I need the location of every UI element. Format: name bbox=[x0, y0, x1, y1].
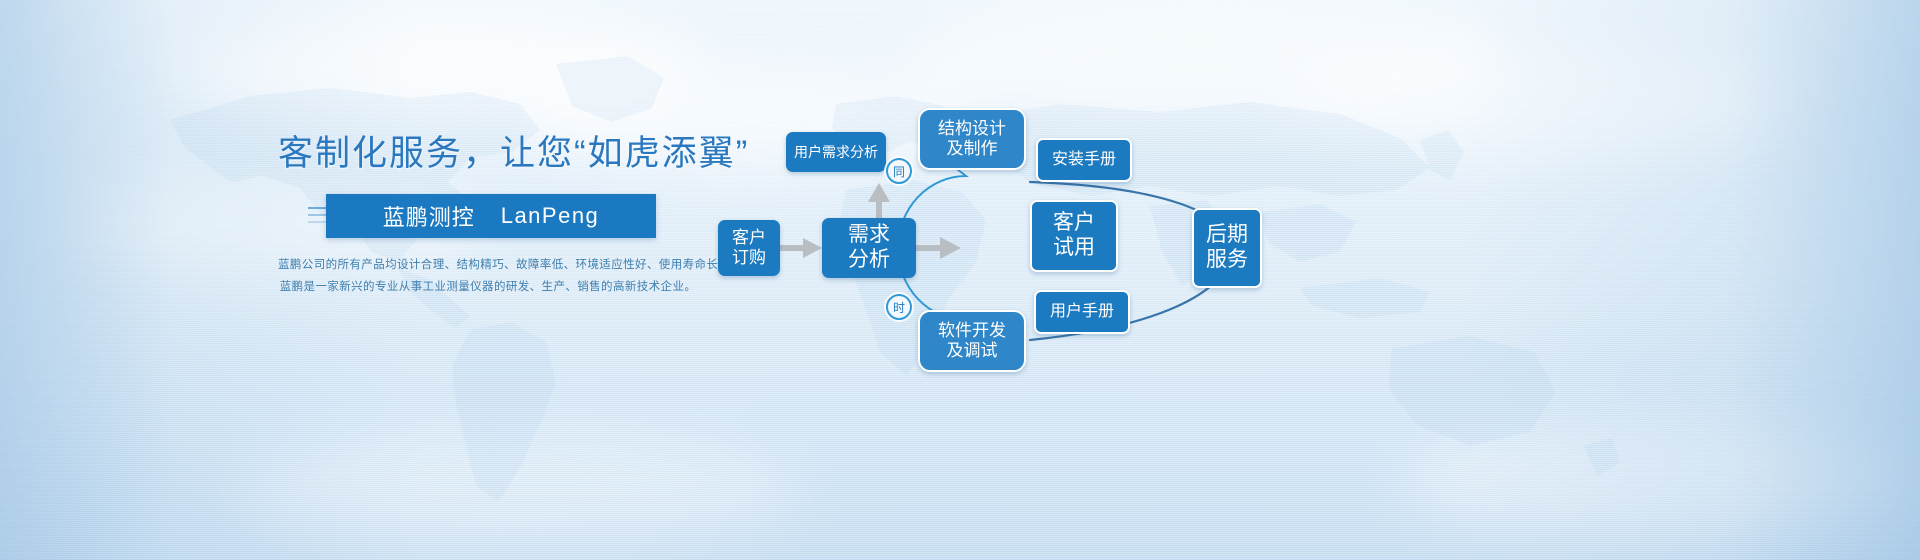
brand-description: 蓝鹏公司的所有产品均设计合理、结构精巧、故障率低、环境适应性好、使用寿命长。 蓝… bbox=[278, 254, 698, 299]
flow-node-install-manual[interactable]: 安装手册 bbox=[1036, 138, 1132, 182]
description-line-1: 蓝鹏公司的所有产品均设计合理、结构精巧、故障率低、环境适应性好、使用寿命长。 bbox=[278, 254, 698, 276]
cloud-decoration bbox=[1400, 420, 1920, 540]
banner-stage: 客制化服务，让您“如虎添翼” 蓝鹏测控 LanPeng 蓝鹏公司的所有产品均设计… bbox=[0, 0, 1920, 560]
brand-name-en: LanPeng bbox=[501, 203, 600, 229]
flow-node-structure-design[interactable]: 结构设计 及制作 bbox=[918, 108, 1026, 170]
flow-badge-label: 时 bbox=[893, 299, 905, 316]
flow-node-label: 需求 分析 bbox=[848, 223, 890, 273]
flow-node-customer-trial[interactable]: 客户 试用 bbox=[1030, 200, 1118, 272]
cloud-decoration bbox=[1280, 40, 1800, 160]
flow-node-demand-analysis[interactable]: 需求 分析 bbox=[822, 218, 916, 278]
flow-node-label: 客户订购 bbox=[724, 228, 774, 268]
flow-node-label: 用户需求分析 bbox=[794, 144, 878, 161]
description-line-2: 蓝鹏是一家新兴的专业从事工业测量仪器的研发、生产、销售的高新技术企业。 bbox=[278, 276, 698, 298]
brand-bar: 蓝鹏测控 LanPeng bbox=[278, 194, 698, 238]
flow-badge-shi: 时 bbox=[886, 294, 912, 320]
flow-badge-tong: 同 bbox=[886, 158, 912, 184]
flow-node-label: 软件开发 及调试 bbox=[938, 321, 1006, 361]
flow-node-label: 客户 试用 bbox=[1053, 211, 1095, 261]
flow-node-software-dev[interactable]: 软件开发 及调试 bbox=[918, 310, 1026, 372]
flow-node-customer-order[interactable]: 客户订购 bbox=[718, 220, 780, 276]
page-title: 客制化服务，让您“如虎添翼” bbox=[278, 132, 698, 176]
flow-badge-label: 同 bbox=[893, 163, 905, 180]
flow-node-after-service[interactable]: 后期 服务 bbox=[1192, 208, 1262, 288]
flow-node-label: 用户手册 bbox=[1050, 303, 1114, 322]
flow-node-label: 结构设计 及制作 bbox=[938, 119, 1006, 159]
brand-name-cn: 蓝鹏测控 bbox=[383, 200, 475, 232]
brand-copy-block: 客制化服务，让您“如虎添翼” 蓝鹏测控 LanPeng 蓝鹏公司的所有产品均设计… bbox=[278, 132, 698, 299]
brand-name-bar: 蓝鹏测控 LanPeng bbox=[326, 194, 656, 238]
arrow-analysis-to-arc bbox=[916, 237, 961, 259]
flow-node-label: 安装手册 bbox=[1052, 151, 1116, 170]
cloud-decoration bbox=[240, 430, 800, 550]
cloud-decoration bbox=[180, 10, 700, 130]
flow-node-label: 后期 服务 bbox=[1206, 223, 1248, 273]
flow-node-user-manual[interactable]: 用户手册 bbox=[1034, 290, 1130, 334]
process-flow-diagram: 用户需求分析 客户订购 需求 分析 结构设计 及制作 软件开发 及调试 安装手册… bbox=[700, 90, 1300, 410]
flow-node-user-demand[interactable]: 用户需求分析 bbox=[786, 132, 886, 172]
arrow-order-to-analysis bbox=[780, 238, 822, 258]
